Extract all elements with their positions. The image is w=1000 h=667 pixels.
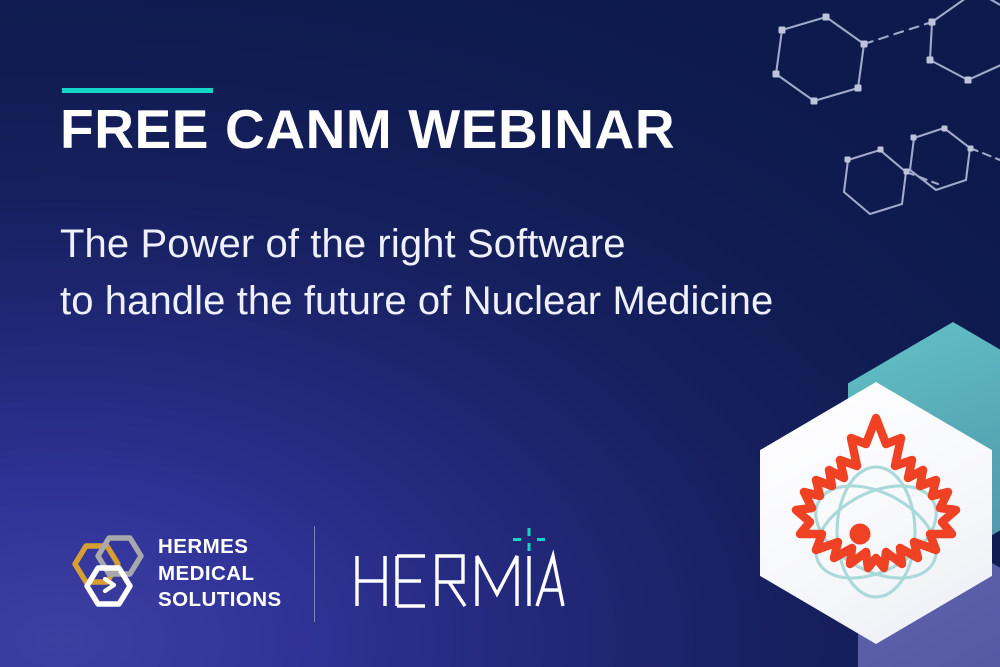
hermes-medical-solutions-logo: HERMES MEDICAL SOLUTIONS: [62, 532, 282, 616]
nucleus-dot: [850, 524, 871, 545]
teal-accent-rule: [62, 88, 213, 93]
canm-badge-artwork: [760, 382, 992, 644]
page-title: FREE CANM WEBINAR: [60, 100, 675, 159]
maple-leaf-icon: [796, 418, 956, 568]
page-subtitle: The Power of the right Software to handl…: [60, 216, 773, 330]
canm-hexagon-badge: [760, 382, 992, 644]
webinar-promo-banner: FREE CANM WEBINAR The Power of the right…: [0, 0, 1000, 667]
molecule-diagram-icon: [700, 0, 1000, 230]
logo-row: HERMES MEDICAL SOLUTIONS: [62, 522, 565, 626]
teal-crosshair-icon: [513, 528, 545, 551]
hermes-interlocking-hexagons-icon: [62, 532, 144, 616]
hermia-wordmark: [351, 526, 565, 618]
hermes-wordmark: HERMES MEDICAL SOLUTIONS: [158, 534, 282, 614]
hermia-logo: [351, 526, 565, 623]
logo-divider: [314, 526, 316, 622]
